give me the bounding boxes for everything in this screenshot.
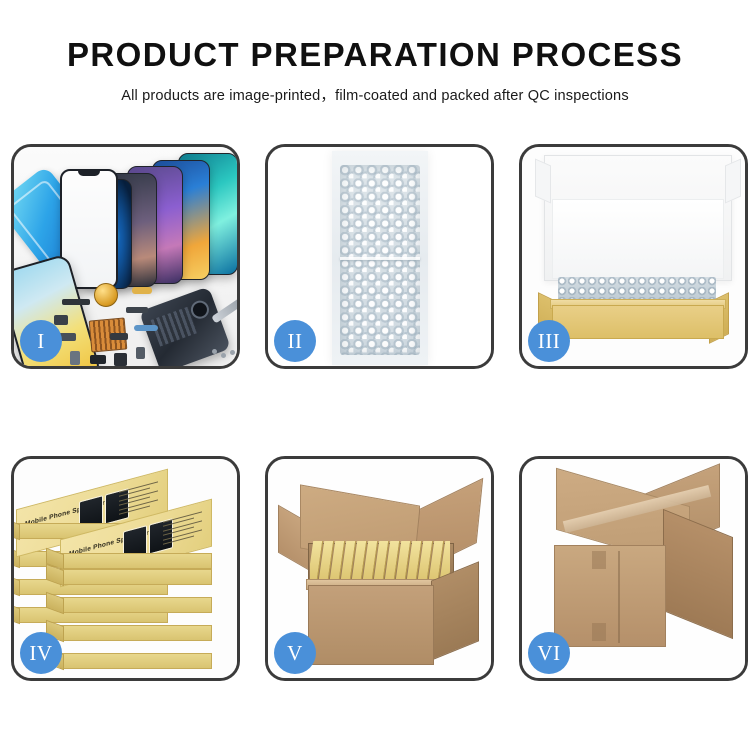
step-badge-3: III xyxy=(528,320,570,362)
step-panel-5: V xyxy=(265,456,494,681)
page-subtitle: All products are image-printed，film-coat… xyxy=(0,73,750,105)
ribbon-cable-icon xyxy=(134,325,158,331)
retail-box-front xyxy=(60,553,212,569)
carton-tab-lower xyxy=(592,623,606,641)
flex-cable-dark-icon xyxy=(126,307,148,313)
vibrator-part-icon xyxy=(90,355,106,364)
foam-sheet-icon xyxy=(552,199,724,279)
retail-box-front xyxy=(60,569,212,585)
retail-box-side xyxy=(14,574,20,597)
bubble-wrap-bubbles xyxy=(340,165,420,355)
step-badge-4: IV xyxy=(20,632,62,674)
retail-box-side xyxy=(14,602,20,625)
retail-box-front xyxy=(60,597,212,613)
step-panel-6: VI xyxy=(519,456,748,681)
retail-box-front xyxy=(60,653,212,669)
step-badge-6: VI xyxy=(528,632,570,674)
sealed-carton-front-face xyxy=(554,545,666,647)
camera-module-icon xyxy=(114,353,127,366)
antenna-part-icon xyxy=(110,333,128,340)
step-panel-4: Mobile Phone Spare Parts xyxy=(11,456,240,681)
bubble-wrap-seam xyxy=(340,257,420,260)
speaker-coil-icon xyxy=(94,283,118,307)
carton-tab-upper xyxy=(592,551,606,569)
screws-icon xyxy=(212,349,237,361)
step-panel-2: II xyxy=(265,144,494,369)
step-badge-1: I xyxy=(20,320,62,362)
sim-tray-icon xyxy=(70,351,80,365)
page-title: PRODUCT PREPARATION PROCESS xyxy=(0,0,750,73)
box-spec-lines xyxy=(163,511,205,550)
retail-box-front xyxy=(60,625,212,641)
inner-box-front-icon xyxy=(552,305,724,339)
button-part-icon xyxy=(136,347,145,359)
flex-cable-gold-icon xyxy=(132,287,152,294)
step-badge-5: V xyxy=(274,632,316,674)
bracket-part-icon xyxy=(54,315,68,325)
earpiece-part-icon xyxy=(62,299,90,305)
process-step-grid: I II III xyxy=(11,144,739,681)
carton-front-face xyxy=(308,585,434,665)
step-panel-3: III xyxy=(519,144,748,369)
step-badge-2: II xyxy=(274,320,316,362)
step-panel-1: I xyxy=(11,144,240,369)
sealed-carton-edge-seam xyxy=(618,551,620,643)
page-header: PRODUCT PREPARATION PROCESS All products… xyxy=(0,0,750,105)
page-root: PRODUCT PREPARATION PROCESS All products… xyxy=(0,0,750,750)
